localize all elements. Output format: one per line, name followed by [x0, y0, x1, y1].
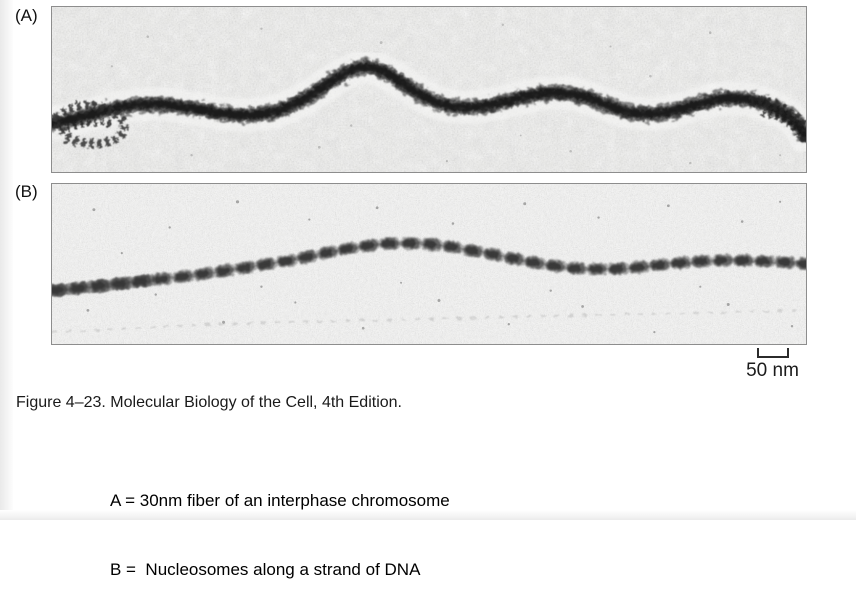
- scale-bar-bracket-icon: [757, 348, 789, 358]
- panel-b-micrograph: [51, 183, 807, 345]
- panel-b-label: (B): [15, 182, 38, 201]
- page-left-edge-shadow: [0, 0, 13, 520]
- scale-bar: 50 nm: [735, 346, 810, 388]
- scale-bar-label: 50 nm: [735, 360, 810, 382]
- figure-caption: Figure 4–23. Molecular Biology of the Ce…: [16, 393, 402, 413]
- page-bottom-edge-shadow: [0, 510, 856, 520]
- panel-a-micrograph: [51, 6, 807, 173]
- legend-line-a: A = 30nm fiber of an interphase chromoso…: [110, 489, 450, 512]
- panel-a-label: (A): [15, 6, 38, 25]
- legend-line-b: B = Nucleosomes along a strand of DNA: [110, 558, 450, 581]
- figure-legend: A = 30nm fiber of an interphase chromoso…: [110, 443, 450, 604]
